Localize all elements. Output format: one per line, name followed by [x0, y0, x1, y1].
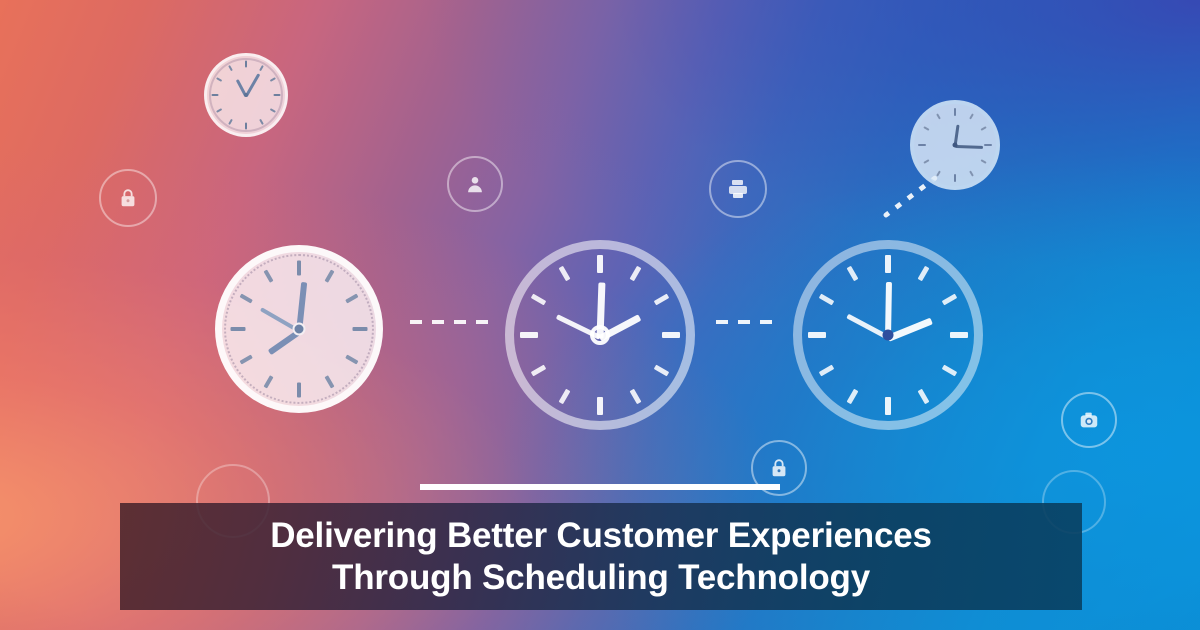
title-divider-rule	[420, 484, 780, 490]
title-line-1: Delivering Better Customer Experiences	[270, 515, 932, 557]
lock-icon	[768, 457, 790, 479]
lock-icon	[117, 187, 139, 209]
clock-large-left	[215, 245, 383, 413]
title-line-2: Through Scheduling Technology	[332, 557, 870, 599]
printer-icon	[726, 177, 750, 201]
title-band: Delivering Better Customer Experiences T…	[120, 503, 1082, 610]
dashed-connector-center-right	[716, 320, 778, 324]
clock-large-center	[505, 240, 695, 430]
bubble-printer	[709, 160, 767, 218]
bubble-camera	[1061, 392, 1117, 448]
clock-small-topright	[910, 100, 1000, 190]
dashed-connector-left-center	[410, 320, 490, 324]
banner-canvas: Delivering Better Customer Experiences T…	[0, 0, 1200, 630]
camera-icon	[1078, 409, 1100, 431]
clock-small-topleft	[204, 53, 288, 137]
clock-large-right	[793, 240, 983, 430]
bubble-lock-left	[99, 169, 157, 227]
user-icon	[464, 173, 486, 195]
bubble-user	[447, 156, 503, 212]
